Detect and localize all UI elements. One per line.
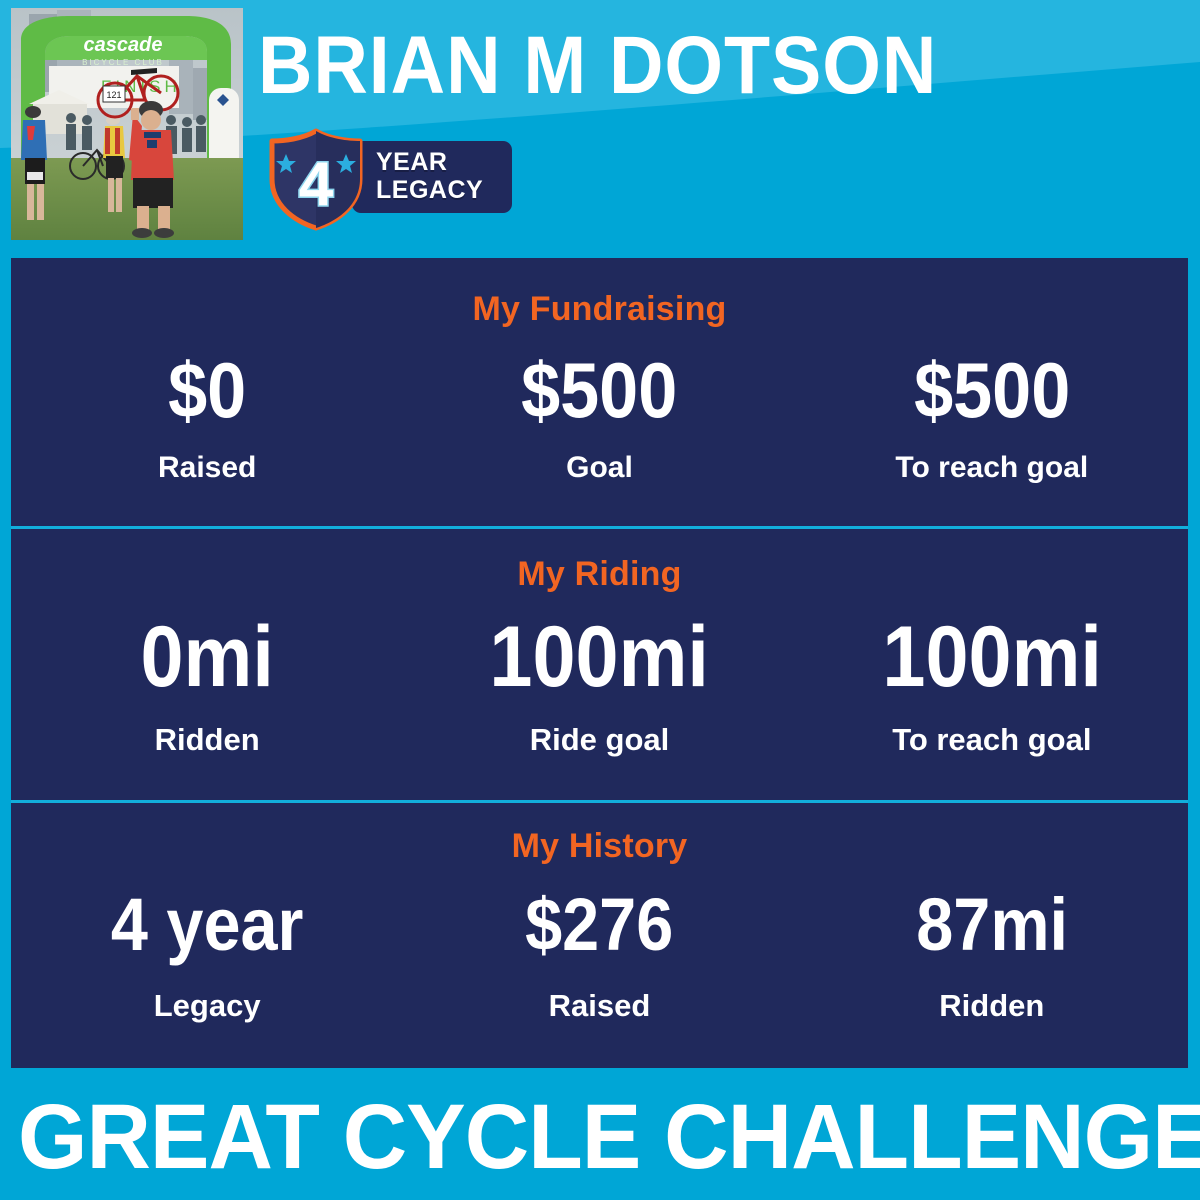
svg-text:cascade: cascade <box>84 34 163 56</box>
stat-ridden: 0mi Ridden <box>11 614 403 758</box>
section-title-fundraising: My Fundraising <box>11 258 1188 329</box>
section-history: My History 4 year Legacy $276 Raised 87m… <box>11 803 1188 1068</box>
stat-label: Goal <box>403 451 795 485</box>
stat-value: 100mi <box>815 614 1168 700</box>
stat-row-fundraising: $0 Raised $500 Goal $500 To reach goal <box>11 351 1188 485</box>
stat-value: $0 <box>31 351 384 429</box>
stat-row-riding: 0mi Ridden 100mi Ride goal 100mi To reac… <box>11 614 1188 758</box>
legacy-badge-number: 4 <box>299 150 334 219</box>
stat-ride-to-reach-goal: 100mi To reach goal <box>796 614 1188 758</box>
footer-banner: GREAT CYCLE CHALLENGE <box>0 1068 1200 1200</box>
athlete-photo: cascade BICYCLE CLUB FINISH <box>11 8 243 240</box>
stat-label: To reach goal <box>796 722 1188 758</box>
stat-value: $500 <box>815 351 1168 429</box>
footer-logo-text: GREAT CYCLE CHALLENGE <box>18 1088 1182 1186</box>
stat-row-history: 4 year Legacy $276 Raised 87mi Ridden <box>11 888 1188 1024</box>
svg-text:BICYCLE CLUB: BICYCLE CLUB <box>82 58 164 67</box>
stat-history-ridden: 87mi Ridden <box>796 888 1188 1024</box>
legacy-badge-plate-text: YEAR LEGACY <box>376 148 483 204</box>
section-title-history: My History <box>11 803 1188 866</box>
stat-raised: $0 Raised <box>11 351 403 485</box>
stat-value: 87mi <box>815 888 1168 962</box>
stat-goal: $500 Goal <box>403 351 795 485</box>
stat-value: 4 year <box>31 888 384 962</box>
shield-icon: 4 <box>262 127 370 232</box>
legacy-badge-legacy-label: LEGACY <box>376 176 483 204</box>
stat-label: To reach goal <box>796 451 1188 485</box>
stat-value: $500 <box>423 351 776 429</box>
stat-label: Ridden <box>11 722 403 758</box>
stat-label: Raised <box>11 451 403 485</box>
stat-label: Legacy <box>11 988 403 1024</box>
stat-legacy: 4 year Legacy <box>11 888 403 1024</box>
section-fundraising: My Fundraising $0 Raised $500 Goal $500 … <box>11 258 1188 526</box>
legacy-badge-year-label: YEAR <box>376 148 483 176</box>
stat-value: 0mi <box>31 614 384 700</box>
svg-text:121: 121 <box>106 90 121 100</box>
legacy-badge-plate: YEAR LEGACY <box>352 141 512 213</box>
header-banner: cascade BICYCLE CLUB FINISH <box>0 0 1200 258</box>
stat-ride-goal: 100mi Ride goal <box>403 614 795 758</box>
stat-value: 100mi <box>423 614 776 700</box>
great-cycle-challenge-logo: GREAT CYCLE CHALLENGE <box>0 1068 1200 1200</box>
stats-panel: My Fundraising $0 Raised $500 Goal $500 … <box>11 258 1188 1068</box>
stat-to-reach-goal: $500 To reach goal <box>796 351 1188 485</box>
page-title: BRIAN M DOTSON <box>258 20 1104 112</box>
legacy-badge: YEAR LEGACY 4 <box>262 127 512 232</box>
stat-label: Raised <box>403 988 795 1024</box>
section-riding: My Riding 0mi Ridden 100mi Ride goal 100… <box>11 529 1188 800</box>
stat-value: $276 <box>423 888 776 962</box>
stat-history-raised: $276 Raised <box>403 888 795 1024</box>
section-title-riding: My Riding <box>11 529 1188 594</box>
stat-label: Ride goal <box>403 722 795 758</box>
stat-label: Ridden <box>796 988 1188 1024</box>
